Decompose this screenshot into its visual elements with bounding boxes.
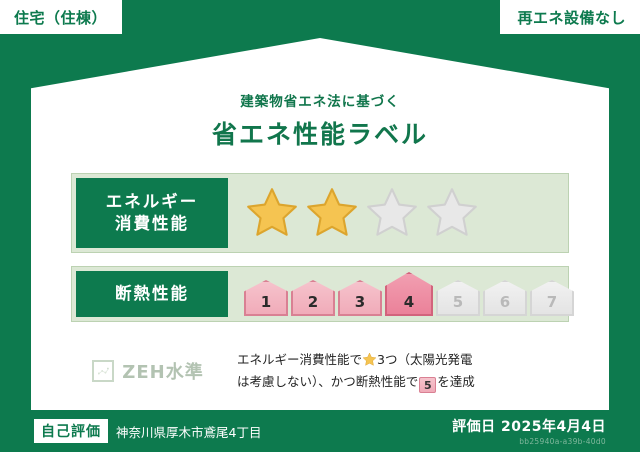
evaluation-type-badge: 自己評価: [34, 419, 108, 443]
label-footer: 自己評価 神奈川県厚木市鳶尾4丁目 評価日 2025年4月4日 bb25940a…: [0, 410, 640, 452]
zeh-desc-part1: エネルギー消費性能で: [237, 352, 362, 367]
grade-badge-value: 5: [453, 293, 463, 311]
label-subtitle: 建築物省エネ法に基づく: [55, 90, 585, 110]
star-filled-icon: [304, 185, 360, 241]
evaluation-date-label: 評価日: [452, 419, 496, 435]
energy-performance-value: [232, 174, 568, 252]
label-card: 建築物省エネ法に基づく 省エネ性能ラベル エネルギー 消費性能 断熱性: [31, 38, 609, 410]
zeh-check-box-icon: [92, 360, 114, 382]
grade-badge: 6: [483, 280, 527, 316]
property-address: 神奈川県厚木市鳶尾4丁目: [116, 422, 261, 441]
grade-badge: 2: [291, 280, 335, 316]
energy-label-line1: エネルギー: [106, 191, 199, 213]
grade-badge: 7: [530, 280, 574, 316]
star-rating: [244, 185, 480, 241]
grade-badge-value: 2: [308, 293, 318, 311]
star-filled-icon: [244, 185, 300, 241]
grade-scale: 1234567: [244, 272, 574, 316]
energy-performance-row: エネルギー 消費性能: [71, 173, 569, 253]
evaluation-date: 評価日 2025年4月4日: [452, 416, 606, 436]
zeh-desc-part2: は考慮しない）、かつ断熱性能で: [237, 374, 418, 389]
metric-rows: エネルギー 消費性能 断熱性能 1234567: [55, 173, 585, 322]
inline-grade-badge: 5: [419, 377, 436, 393]
grade-badge-value: 4: [404, 293, 414, 311]
energy-performance-label-head: エネルギー 消費性能: [76, 178, 228, 248]
grade-badge: 1: [244, 280, 288, 316]
zeh-label: ZEH水準: [122, 358, 203, 384]
grade-badge-value: 7: [547, 293, 557, 311]
renewable-equipment-badge: 再エネ設備なし: [500, 0, 640, 34]
grade-badge: 5: [436, 280, 480, 316]
star-empty-icon: [424, 185, 480, 241]
insulation-performance-row: 断熱性能 1234567: [71, 266, 569, 322]
footer-right-group: 評価日 2025年4月4日 bb25940a-a39b-40d0: [452, 416, 606, 446]
zeh-description: エネルギー消費性能で3つ（太陽光発電 は考慮しない）、かつ断熱性能で5を達成: [237, 349, 567, 393]
energy-performance-label: 住宅（住棟） 再エネ設備なし 建築物省エネ法に基づく 省エネ性能ラベル エネルギ…: [0, 0, 640, 452]
grade-badge-current: 4: [385, 272, 433, 316]
zeh-desc-star-count: 3つ（太陽光発電: [377, 352, 472, 367]
building-type-badge: 住宅（住棟）: [0, 0, 122, 34]
grade-badge-value: 1: [261, 293, 271, 311]
zeh-indicator: ZEH水準: [73, 358, 223, 384]
evaluation-date-value: 2025年4月4日: [501, 419, 606, 435]
inline-star-icon: [362, 352, 377, 367]
footer-left-group: 自己評価 神奈川県厚木市鳶尾4丁目: [34, 419, 261, 443]
grade-badge-value: 6: [500, 293, 510, 311]
grade-badge-value: 3: [355, 293, 365, 311]
energy-label-line2: 消費性能: [115, 213, 189, 235]
insulation-performance-label-head: 断熱性能: [76, 271, 228, 317]
evaluation-hash: bb25940a-a39b-40d0: [452, 437, 606, 446]
page-title: 省エネ性能ラベル: [55, 115, 585, 151]
insulation-label: 断熱性能: [115, 283, 189, 305]
zeh-section: ZEH水準 エネルギー消費性能で3つ（太陽光発電 は考慮しない）、かつ断熱性能で…: [55, 335, 585, 393]
grade-badge: 3: [338, 280, 382, 316]
star-empty-icon: [364, 185, 420, 241]
zeh-desc-part3: を達成: [437, 374, 475, 389]
insulation-performance-value: 1234567: [232, 267, 574, 321]
